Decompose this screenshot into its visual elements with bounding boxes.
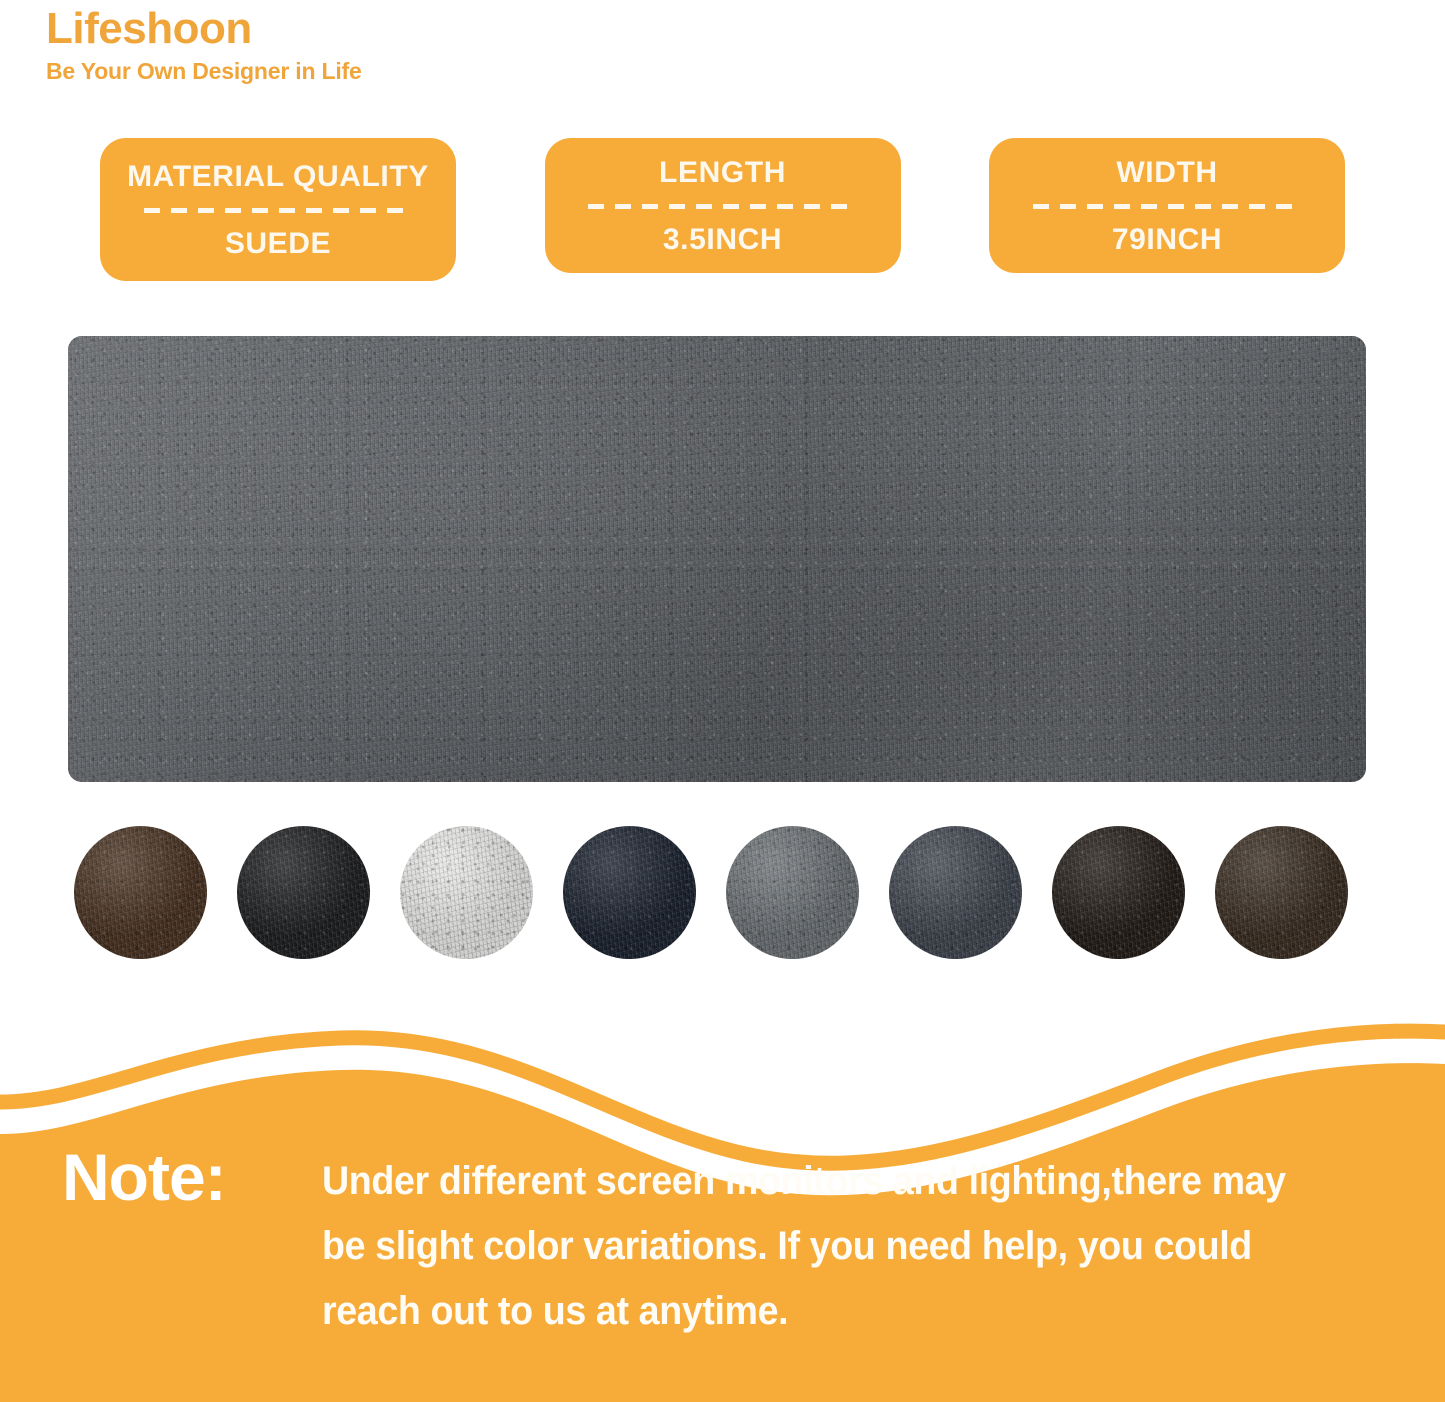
swatch-sheen <box>726 826 859 959</box>
dashed-divider-icon <box>144 208 413 213</box>
color-swatch-white[interactable] <box>400 826 533 959</box>
color-swatch-row <box>74 824 1348 960</box>
brand-name: Lifeshoon <box>46 6 362 52</box>
swatch-sheen <box>1215 826 1348 959</box>
product-rug-image <box>68 336 1366 782</box>
note-content: Note: Under different screen monitors an… <box>0 1016 1445 1402</box>
brand-tagline: Be Your Own Designer in Life <box>46 58 362 85</box>
color-swatch-navy[interactable] <box>563 826 696 959</box>
spec-badge-material-quality: MATERIAL QUALITY SUEDE <box>100 138 456 281</box>
note-footer: Note: Under different screen monitors an… <box>0 1016 1445 1402</box>
spec-badge-value: 3.5INCH <box>663 223 782 256</box>
spec-badge-value: SUEDE <box>225 227 331 260</box>
rug-sheen-overlay <box>68 336 1366 782</box>
note-text: Under different screen monitors and ligh… <box>322 1149 1333 1343</box>
spec-badge-value: 79INCH <box>1112 223 1222 256</box>
color-swatch-coffee-brown[interactable] <box>1215 826 1348 959</box>
swatch-sheen <box>74 826 207 959</box>
spec-badge-title: LENGTH <box>659 156 786 189</box>
spec-badge-width: WIDTH 79INCH <box>989 138 1345 273</box>
dashed-divider-icon <box>1033 204 1302 209</box>
brand-header: Lifeshoon Be Your Own Designer in Life <box>46 6 362 85</box>
spec-badge-title: WIDTH <box>1116 156 1217 189</box>
color-swatch-dark-brown[interactable] <box>74 826 207 959</box>
color-swatch-dark-slate-gray[interactable] <box>889 826 1022 959</box>
note-label: Note: <box>62 1144 226 1210</box>
swatch-sheen <box>400 826 533 959</box>
color-swatch-espresso[interactable] <box>1052 826 1185 959</box>
swatch-sheen <box>1052 826 1185 959</box>
swatch-sheen <box>237 826 370 959</box>
color-swatch-black[interactable] <box>237 826 370 959</box>
infographic-page: Lifeshoon Be Your Own Designer in Life M… <box>0 0 1445 1402</box>
swatch-sheen <box>889 826 1022 959</box>
spec-badge-title: MATERIAL QUALITY <box>127 160 429 193</box>
spec-badge-length: LENGTH 3.5INCH <box>545 138 901 273</box>
color-swatch-gray[interactable] <box>726 826 859 959</box>
swatch-sheen <box>563 826 696 959</box>
spec-badge-row: MATERIAL QUALITY SUEDE LENGTH 3.5INCH WI… <box>100 138 1345 281</box>
dashed-divider-icon <box>588 204 857 209</box>
